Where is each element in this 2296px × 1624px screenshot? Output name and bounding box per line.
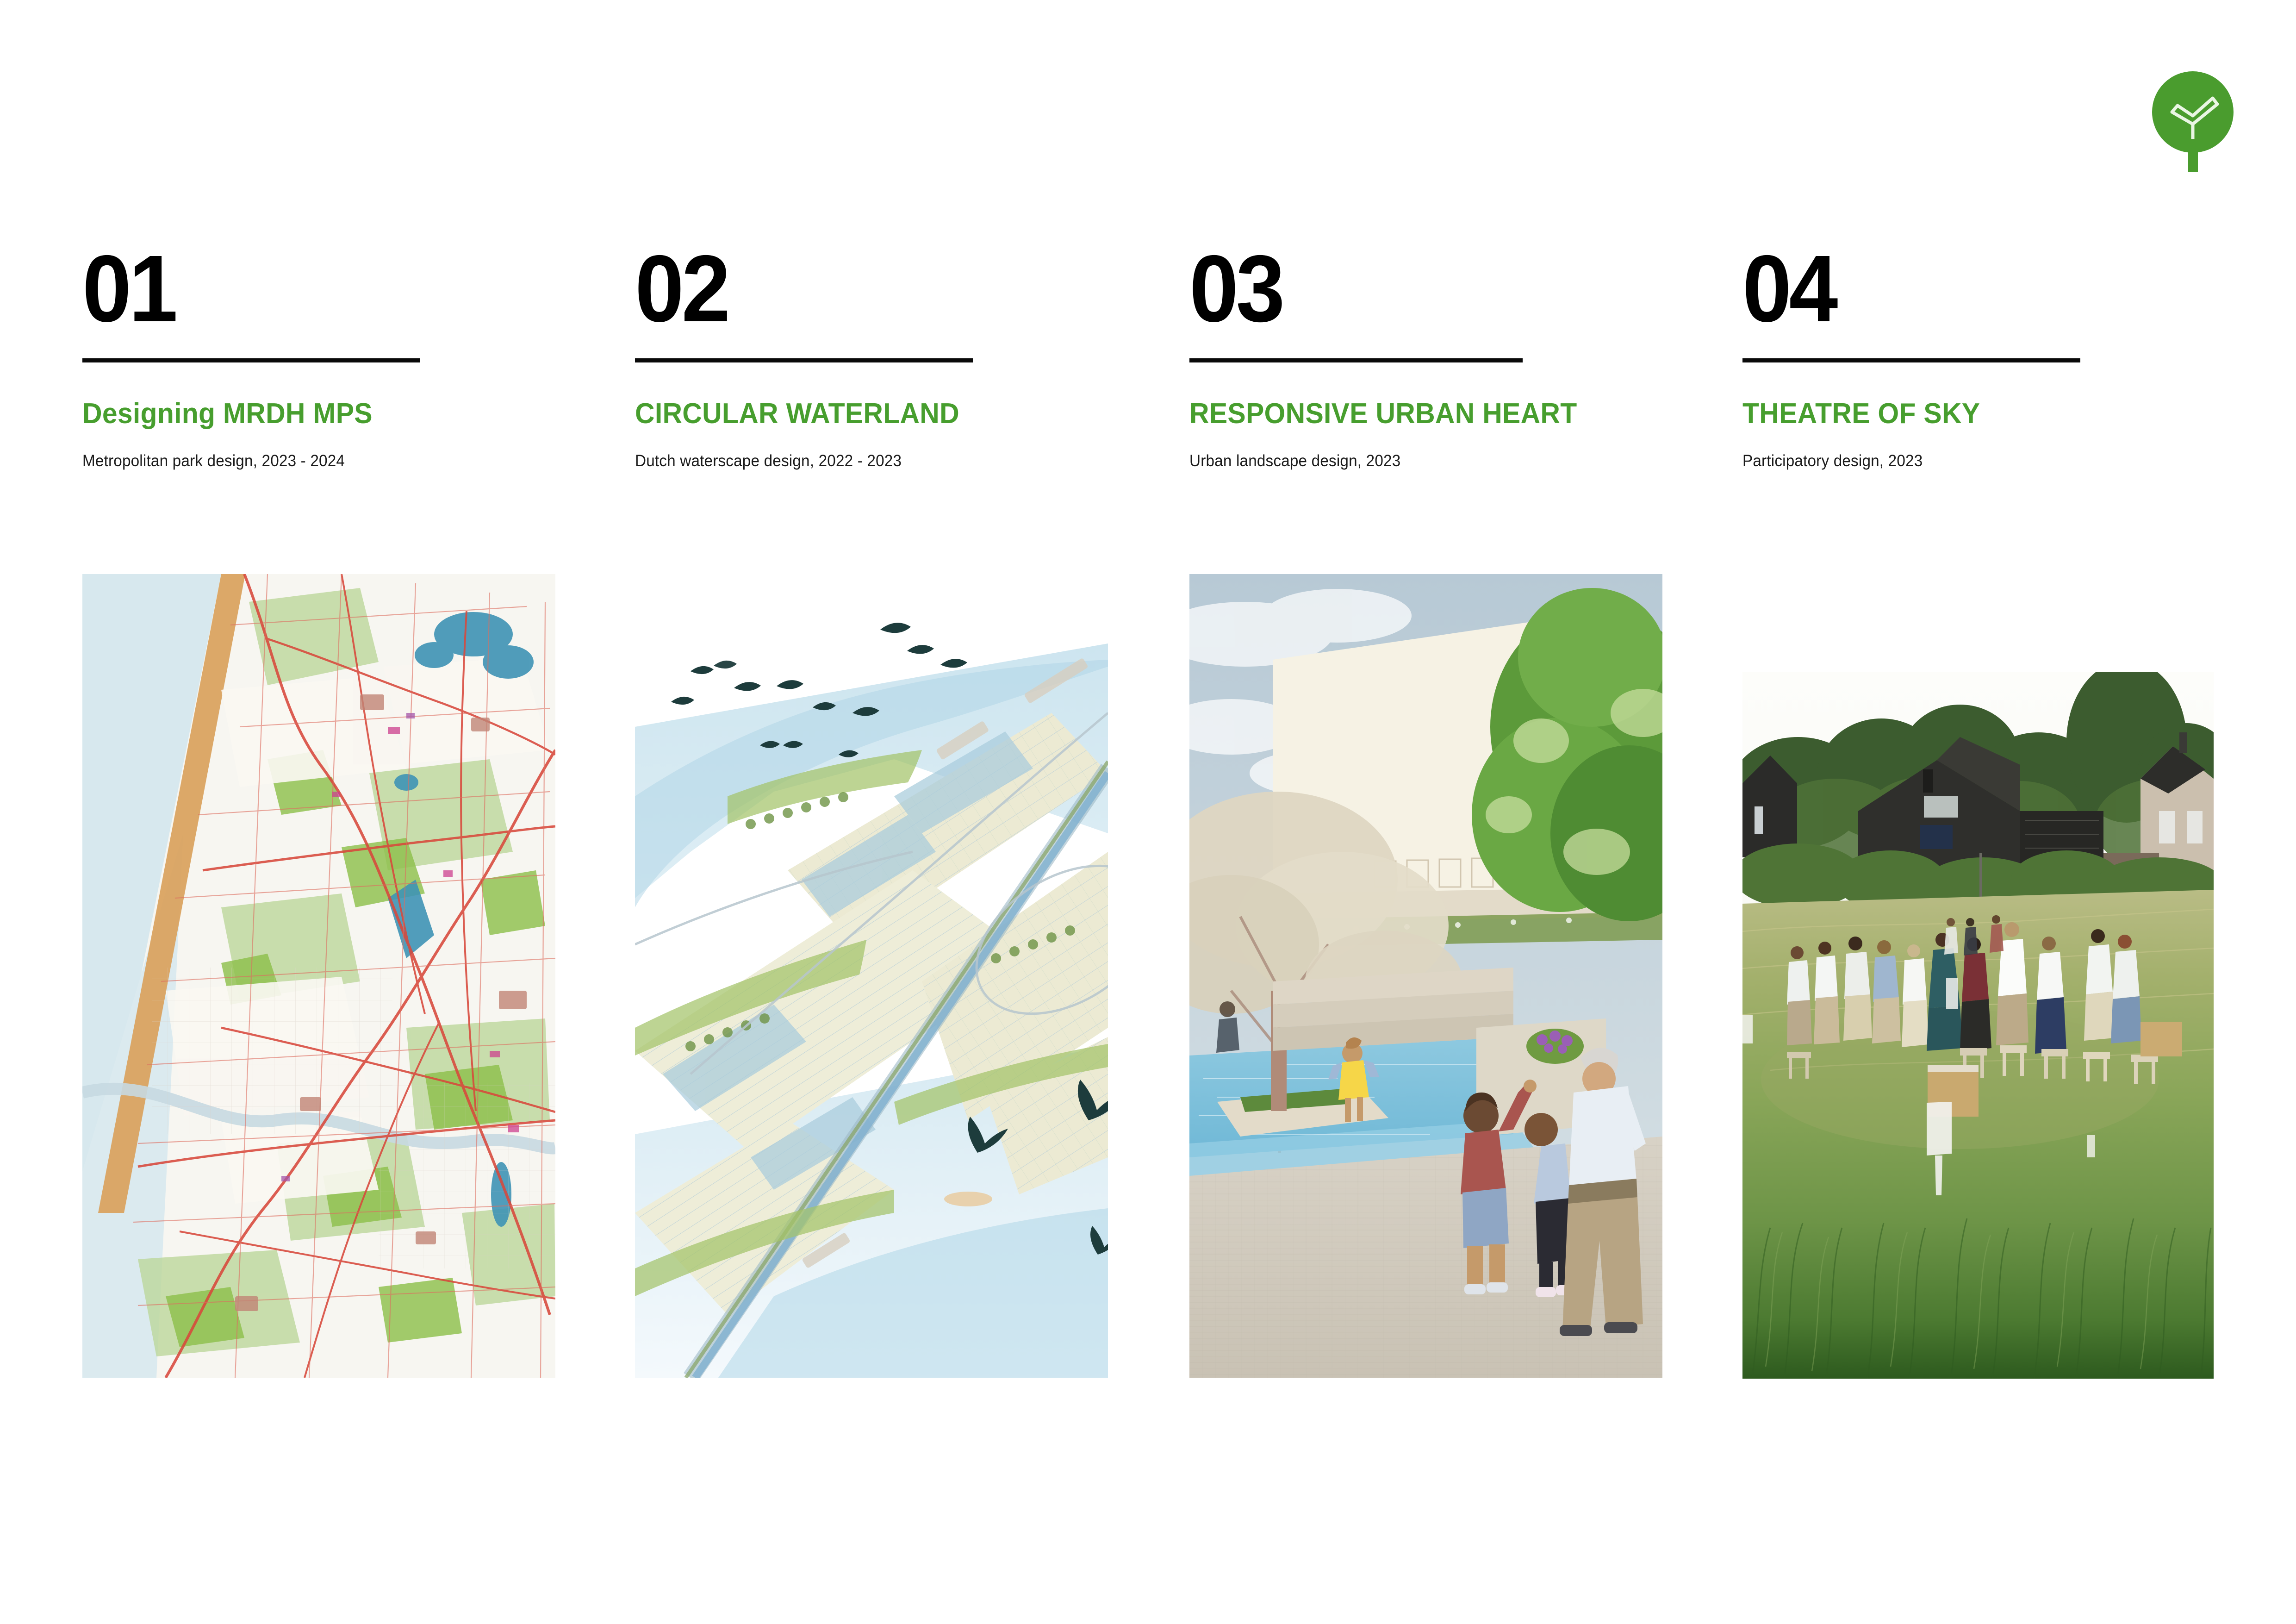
map-illustration	[82, 574, 555, 1378]
photo-thumbnail-theatre-of-sky[interactable]	[1742, 672, 2214, 1379]
project-subtitle: Dutch waterscape design, 2022 - 2023	[635, 452, 1101, 470]
masterplan-illustration	[635, 574, 1108, 1378]
plan-thumbnail-waterland[interactable]	[635, 574, 1108, 1378]
project-column-2[interactable]: 02 CIRCULAR WATERLAND Dutch waterscape d…	[635, 245, 1126, 470]
project-column-4[interactable]: 04 THEATRE OF SKY Participatory design, …	[1742, 245, 2233, 470]
project-subtitle: Metropolitan park design, 2023 - 2024	[82, 452, 548, 470]
project-subtitle: Urban landscape design, 2023	[1189, 452, 1655, 470]
project-divider	[1189, 358, 1523, 362]
render-illustration	[1189, 574, 1662, 1378]
planter-flowers	[1526, 1029, 1584, 1064]
project-divider	[82, 358, 420, 362]
project-divider	[635, 358, 973, 362]
project-title: RESPONSIVE URBAN HEART	[1189, 399, 1655, 429]
project-number: 03	[1189, 245, 1646, 333]
project-title: Designing MRDH MPS	[82, 399, 548, 429]
photo-illustration	[1742, 672, 2214, 1379]
project-column-3[interactable]: 03 RESPONSIVE URBAN HEART Urban landscap…	[1189, 245, 1680, 470]
render-thumbnail-urban-heart[interactable]	[1189, 574, 1662, 1378]
background-walkers	[1944, 915, 2004, 956]
project-subtitle: Participatory design, 2023	[1742, 452, 2209, 470]
project-column-1[interactable]: 01 Designing MRDH MPS Metropolitan park …	[82, 245, 573, 470]
project-divider	[1742, 358, 2080, 362]
project-number: 02	[635, 245, 1091, 333]
project-title: THEATRE OF SKY	[1742, 399, 2209, 429]
project-title: CIRCULAR WATERLAND	[635, 399, 1101, 429]
project-number: 04	[1742, 245, 2199, 333]
map-thumbnail-mrdh[interactable]	[82, 574, 555, 1378]
project-grid: 01 Designing MRDH MPS Metropolitan park …	[0, 0, 2296, 1624]
project-number: 01	[82, 245, 539, 333]
